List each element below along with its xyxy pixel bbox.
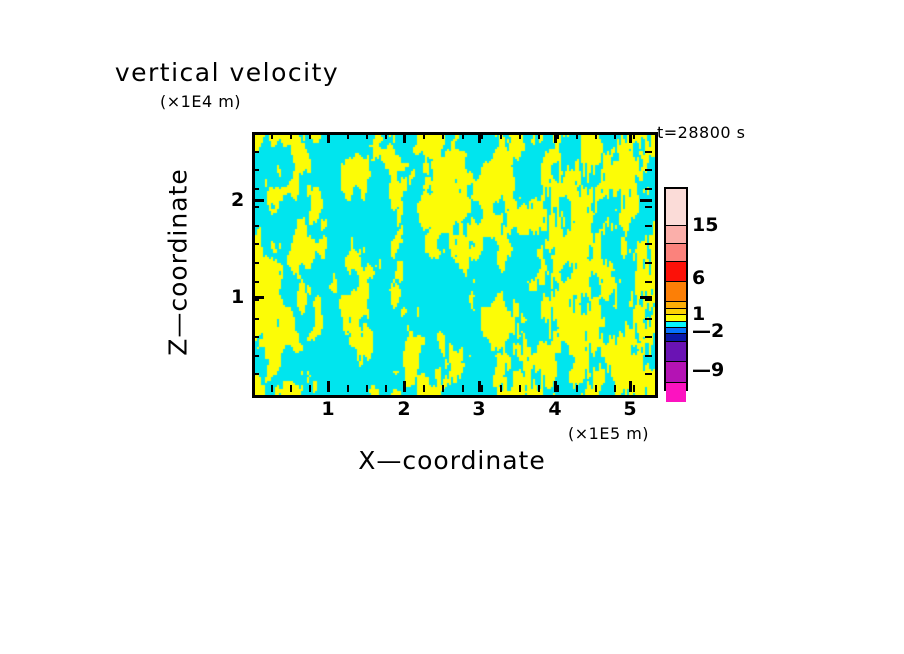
axis-tick [252, 225, 259, 227]
axis-tick [403, 132, 406, 143]
colorbar-tick-label: 15 [692, 214, 718, 236]
axis-tick [252, 336, 259, 338]
axis-tick [478, 132, 481, 143]
colorbar-band [666, 314, 686, 321]
axis-tick [645, 225, 652, 227]
axis-tick [252, 206, 259, 208]
axis-tick [252, 243, 259, 245]
axis-tick [252, 169, 259, 171]
colorbar-band [666, 261, 686, 281]
axis-tick [645, 206, 652, 208]
axis-tick [462, 385, 464, 392]
x-tick-label: 1 [321, 398, 334, 420]
axis-tick [252, 281, 259, 283]
axis-tick [271, 132, 273, 139]
axis-tick [640, 199, 652, 202]
colorbar-tick-label: —9 [692, 359, 724, 381]
axis-tick [385, 385, 387, 392]
axis-tick [645, 355, 652, 357]
axis-tick [633, 132, 635, 139]
axis-tick [554, 132, 557, 143]
axis-tick [633, 385, 635, 392]
x-axis-title: X—coordinate [252, 446, 652, 475]
axis-tick [645, 262, 652, 264]
axis-tick [309, 385, 311, 392]
x-axis-unit-label: (×1E5 m) [568, 424, 649, 443]
axis-tick [478, 381, 481, 392]
time-annotation: t=28800 s [657, 123, 746, 142]
axis-tick [462, 132, 464, 139]
colorbar-band [666, 225, 686, 243]
axis-tick [614, 385, 616, 392]
axis-tick [557, 132, 559, 139]
axis-tick [347, 132, 349, 139]
colorbar-band [666, 333, 686, 340]
contour-plot-area[interactable] [252, 132, 658, 398]
axis-tick [347, 385, 349, 392]
axis-tick [500, 385, 502, 392]
axis-tick [252, 318, 259, 320]
colorbar-band [666, 281, 686, 301]
axis-tick [645, 318, 652, 320]
axis-tick [290, 132, 292, 139]
axis-tick [290, 385, 292, 392]
axis-tick [640, 296, 652, 299]
axis-tick [366, 132, 368, 139]
axis-tick [595, 132, 597, 139]
axis-tick [645, 169, 652, 171]
axis-tick [576, 132, 578, 139]
axis-tick [252, 151, 259, 153]
colorbar-tick-label: —2 [692, 320, 724, 342]
x-tick-label: 2 [397, 398, 410, 420]
axis-tick [500, 132, 502, 139]
axis-tick [557, 385, 559, 392]
axis-tick [629, 132, 632, 143]
colorbar-band [666, 361, 686, 381]
axis-tick [309, 132, 311, 139]
axis-tick [366, 385, 368, 392]
axis-tick [519, 132, 521, 139]
colorbar-tick-label: 6 [692, 267, 705, 289]
axis-tick [327, 132, 330, 143]
axis-tick [645, 299, 652, 301]
y-axis-unit-label: (×1E4 m) [160, 92, 241, 111]
axis-tick [538, 385, 540, 392]
axis-tick [403, 381, 406, 392]
axis-tick [271, 385, 273, 392]
axis-tick [519, 385, 521, 392]
colorbar-band [666, 341, 686, 361]
axis-tick [423, 132, 425, 139]
page-title: vertical velocity [0, 58, 904, 87]
axis-tick [614, 132, 616, 139]
axis-tick [252, 262, 259, 264]
colorbar-band [666, 189, 686, 225]
axis-tick [645, 336, 652, 338]
colorbar-band [666, 243, 686, 261]
axis-tick [645, 243, 652, 245]
axis-tick [645, 281, 652, 283]
y-tick-label: 1 [231, 286, 244, 308]
axis-tick [442, 132, 444, 139]
axis-tick [645, 151, 652, 153]
contour-field-canvas [255, 135, 655, 395]
axis-tick [252, 373, 259, 375]
axis-tick [252, 296, 264, 299]
axis-tick [595, 385, 597, 392]
y-tick-label: 2 [231, 189, 244, 211]
axis-tick [645, 188, 652, 190]
axis-tick [327, 381, 330, 392]
y-axis-title: Z—coordinate [164, 168, 193, 355]
x-tick-label: 5 [623, 398, 636, 420]
axis-tick [554, 381, 557, 392]
axis-tick [252, 188, 259, 190]
x-tick-label: 3 [472, 398, 485, 420]
colorbar[interactable] [664, 187, 688, 391]
axis-tick [629, 381, 632, 392]
axis-tick [442, 385, 444, 392]
axis-tick [252, 199, 264, 202]
axis-tick [423, 385, 425, 392]
axis-tick [576, 385, 578, 392]
axis-tick [538, 132, 540, 139]
colorbar-band [666, 382, 686, 402]
axis-tick [645, 373, 652, 375]
axis-tick [385, 132, 387, 139]
axis-tick [252, 299, 259, 301]
axis-tick [252, 355, 259, 357]
x-tick-label: 4 [548, 398, 561, 420]
